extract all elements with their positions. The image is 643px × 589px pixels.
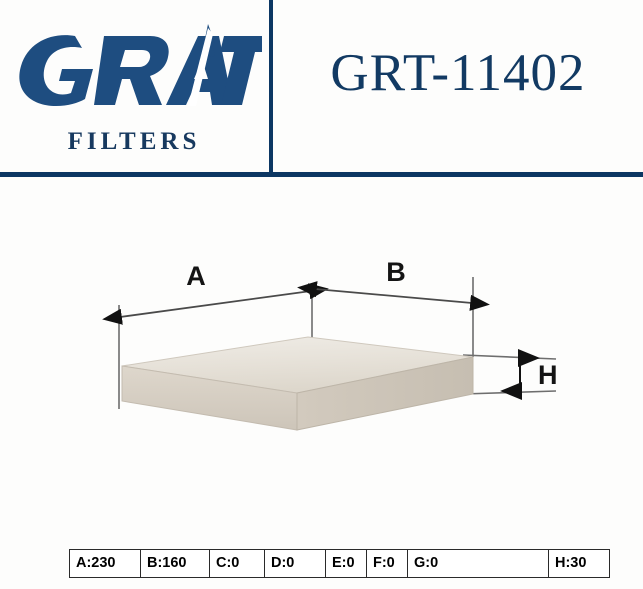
- header: FILTERS GRT-11402: [0, 0, 643, 172]
- brand-logo: FILTERS: [0, 0, 268, 172]
- product-spec-sheet: FILTERS GRT-11402: [0, 0, 643, 589]
- grat-wordmark-logo: [12, 22, 262, 117]
- spec-cell-c: C:0: [210, 550, 265, 578]
- part-number-block: GRT-11402: [273, 0, 643, 172]
- dimension-line-b: [315, 289, 472, 303]
- filter-body: [122, 337, 473, 430]
- dimension-line-a: [120, 291, 311, 317]
- specification-table: A:230 B:160 C:0 D:0 E:0 F:0 G:0 H:30: [69, 549, 610, 578]
- brand-subtitle: FILTERS: [0, 128, 268, 156]
- spec-cell-g: G:0: [408, 550, 549, 578]
- table-row: A:230 B:160 C:0 D:0 E:0 F:0 G:0 H:30: [70, 550, 610, 578]
- spec-cell-b: B:160: [141, 550, 210, 578]
- part-number: GRT-11402: [273, 43, 643, 103]
- filter-dimension-diagram: A B H: [0, 177, 643, 532]
- dimension-label-b: B: [386, 257, 406, 287]
- spec-cell-e: E:0: [326, 550, 367, 578]
- dimension-label-a: A: [186, 261, 206, 291]
- spec-cell-a: A:230: [70, 550, 141, 578]
- spec-cell-f: F:0: [367, 550, 408, 578]
- dimension-label-h: H: [538, 360, 558, 390]
- spec-cell-h: H:30: [549, 550, 610, 578]
- spec-cell-d: D:0: [265, 550, 326, 578]
- technical-drawing: A B H: [0, 177, 643, 532]
